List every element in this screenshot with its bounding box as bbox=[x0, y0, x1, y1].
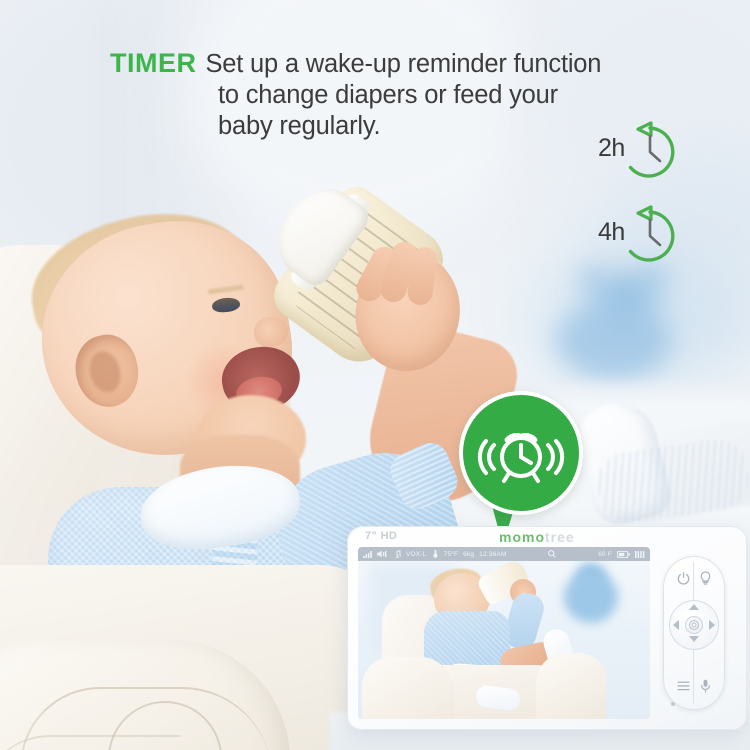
power-button[interactable] bbox=[673, 568, 693, 588]
feed-chair-arm-right bbox=[536, 653, 606, 719]
status-time: 12:36AM bbox=[479, 551, 506, 558]
microphone-icon bbox=[700, 679, 711, 693]
monitor-screen-size-label: 7" HD bbox=[365, 530, 397, 542]
status-resolution: 6kg bbox=[463, 551, 474, 558]
timer-option-4h[interactable]: 4h bbox=[596, 204, 682, 270]
status-temperature: 75°F bbox=[444, 551, 459, 558]
promo-banner: TIMERSet up a wake-up reminder function … bbox=[0, 0, 750, 750]
timer-option-4h-label: 4h bbox=[598, 218, 625, 247]
timer-option-2h[interactable]: 2h bbox=[596, 120, 682, 186]
clock-refresh-icon bbox=[618, 120, 682, 184]
zoom-icon bbox=[548, 550, 556, 558]
headline-text-1: Set up a wake-up reminder function bbox=[206, 50, 602, 78]
headline-text-2: to change diapers or feed your bbox=[110, 80, 670, 111]
monitor-brand-logo: momotree bbox=[499, 529, 575, 545]
monitor-video-feed bbox=[358, 561, 650, 719]
menu-bars-icon bbox=[635, 551, 645, 558]
headline-block: TIMERSet up a wake-up reminder function … bbox=[110, 48, 670, 142]
feed-toy-body bbox=[564, 571, 618, 623]
brand-suffix: tree bbox=[545, 529, 575, 545]
thermometer-icon bbox=[432, 550, 439, 558]
dpad-ok-button[interactable] bbox=[685, 616, 703, 634]
dpad-up[interactable] bbox=[689, 604, 699, 610]
baby-monitor-device: 7" HD momotree bbox=[347, 526, 747, 730]
signal-bars-icon bbox=[363, 551, 372, 558]
timer-badge-label: TIMER bbox=[110, 48, 197, 78]
dpad-right[interactable] bbox=[709, 620, 715, 630]
volume-icon bbox=[377, 550, 388, 558]
monitor-screen[interactable]: VOX-L 75°F 6kg 12:36AM 60 F bbox=[358, 547, 650, 719]
power-icon bbox=[677, 572, 690, 585]
dpad-down[interactable] bbox=[689, 636, 699, 642]
brand-name: momo bbox=[499, 529, 545, 545]
status-timer-value: 60 F bbox=[598, 551, 612, 558]
hamburger-icon bbox=[677, 681, 690, 691]
monitor-status-bar: VOX-L 75°F 6kg 12:36AM 60 F bbox=[358, 547, 650, 561]
alarm-clock-icon bbox=[476, 413, 566, 493]
timer-option-2h-label: 2h bbox=[598, 134, 625, 163]
ok-icon bbox=[688, 619, 700, 631]
lamp-icon bbox=[699, 571, 712, 585]
alarm-alert-bubble[interactable] bbox=[459, 391, 583, 541]
dpad-left[interactable] bbox=[673, 620, 679, 630]
headline-line-1: TIMERSet up a wake-up reminder function bbox=[110, 48, 670, 80]
status-vox: VOX-L bbox=[406, 551, 427, 558]
clock-refresh-icon bbox=[618, 204, 682, 268]
toy-body bbox=[556, 300, 672, 380]
music-note-icon bbox=[393, 550, 401, 558]
feed-chair-arm-left bbox=[362, 657, 454, 719]
battery-icon bbox=[617, 551, 630, 558]
lullaby-button[interactable] bbox=[695, 568, 715, 588]
menu-button[interactable] bbox=[673, 676, 693, 696]
headline-text-3: baby regularly. bbox=[110, 111, 670, 142]
talkback-button[interactable] bbox=[695, 676, 715, 696]
monitor-brand-bar: 7" HD momotree bbox=[347, 526, 747, 548]
